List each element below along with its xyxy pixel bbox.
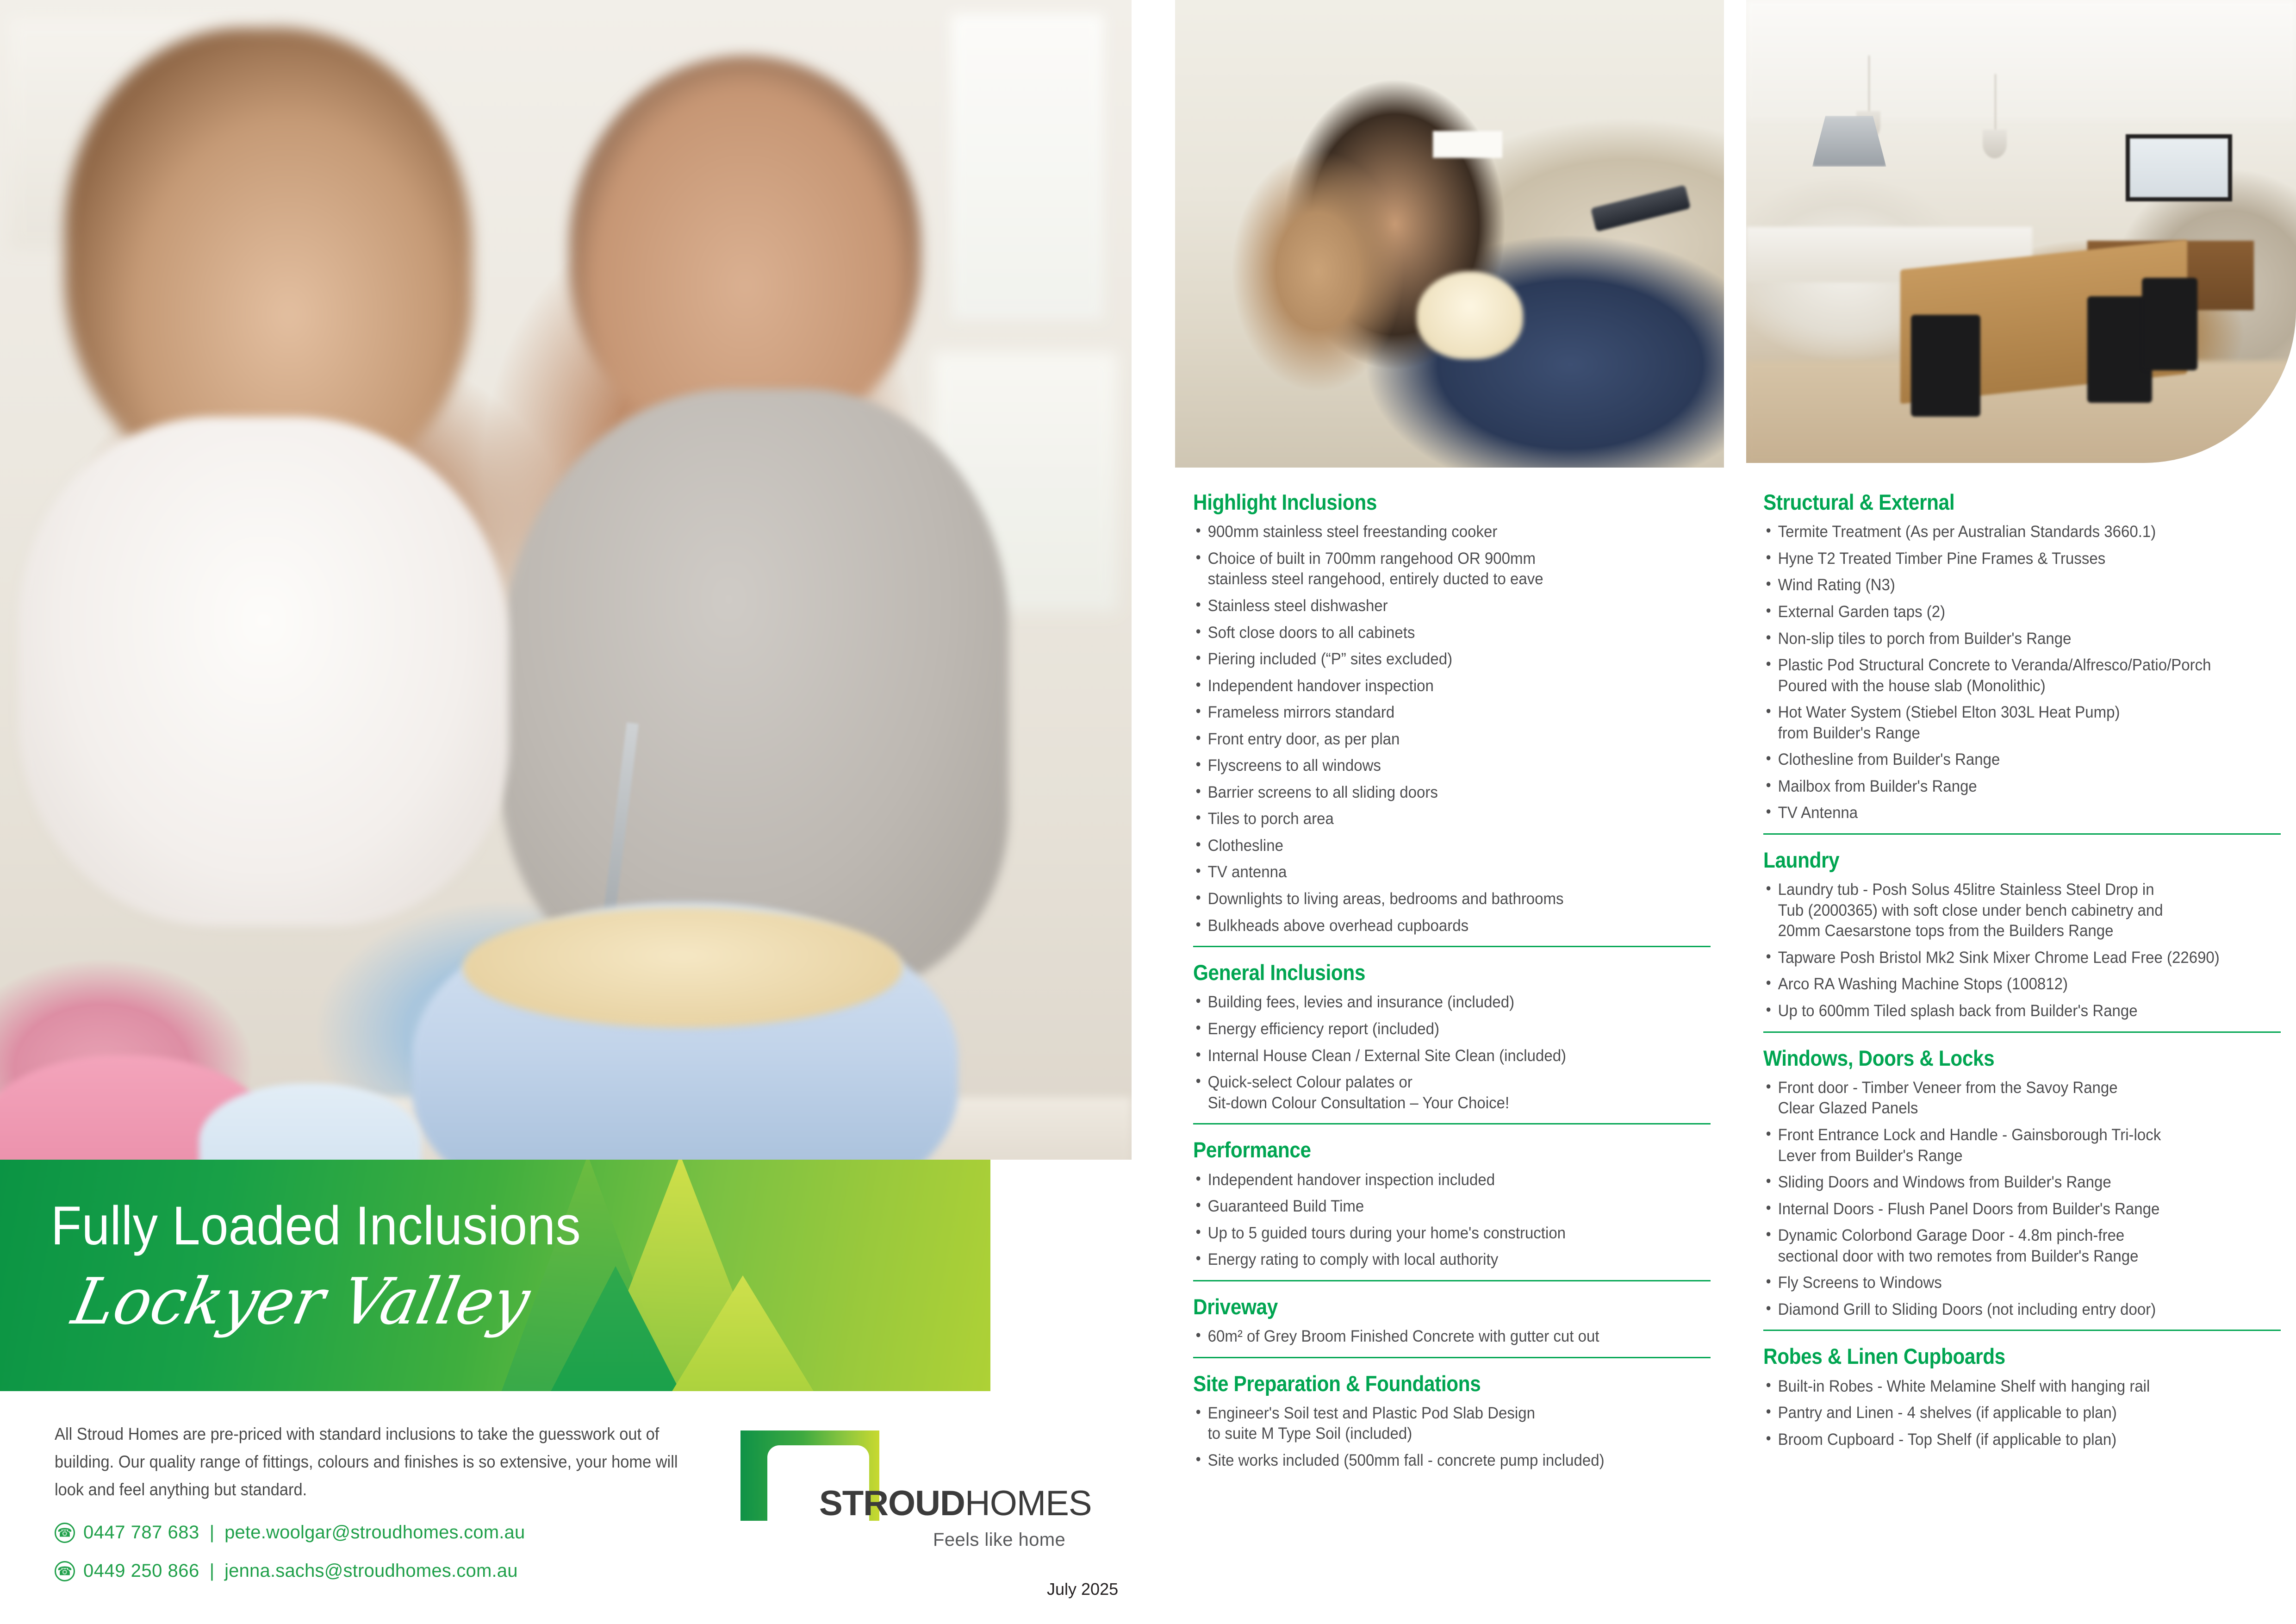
inclusions-section: Robes & Linen CupboardsBuilt-in Robes - … bbox=[1763, 1345, 2281, 1449]
list-item: Broom Cupboard - Top Shelf (if applicabl… bbox=[1763, 1429, 2245, 1450]
banner-subtitle: Lockyer Valley bbox=[67, 1270, 535, 1334]
inclusions-column-middle: Highlight Inclusions900mm stainless stee… bbox=[1193, 491, 1711, 1477]
inclusions-section: Driveway60m² of Grey Broom Finished Conc… bbox=[1193, 1295, 1711, 1347]
phone-icon bbox=[55, 1523, 75, 1543]
list-item: Quick-select Colour palates or Sit-down … bbox=[1193, 1072, 1674, 1113]
contact-list: 0447 787 683 | pete.woolgar@stroudhomes.… bbox=[55, 1522, 525, 1599]
contact-separator: | bbox=[210, 1522, 214, 1543]
list-item: Independent handover inspection included bbox=[1193, 1169, 1674, 1190]
list-item: Frameless mirrors standard bbox=[1193, 702, 1674, 723]
contact-row: 0447 787 683 | pete.woolgar@stroudhomes.… bbox=[55, 1522, 525, 1543]
logo-wordmark: STROUDHOMES bbox=[819, 1486, 1092, 1521]
section-heading: Performance bbox=[1193, 1138, 1659, 1161]
inclusions-section: Site Preparation & FoundationsEngineer's… bbox=[1193, 1372, 1711, 1471]
list-item: Independent handover inspection bbox=[1193, 675, 1674, 696]
contact-separator: | bbox=[210, 1561, 214, 1581]
list-item: Clothesline from Builder's Range bbox=[1763, 749, 2245, 770]
list-item: Wind Rating (N3) bbox=[1763, 575, 2245, 595]
inclusions-list: 60m² of Grey Broom Finished Concrete wit… bbox=[1193, 1326, 1711, 1347]
inclusions-section: Structural & ExternalTermite Treatment (… bbox=[1763, 491, 2281, 823]
logo-tagline: Feels like home bbox=[933, 1530, 1065, 1550]
contact-row: 0449 250 866 | jenna.sachs@stroudhomes.c… bbox=[55, 1561, 525, 1581]
section-heading: Highlight Inclusions bbox=[1193, 491, 1659, 513]
list-item: Pantry and Linen - 4 shelves (if applica… bbox=[1763, 1402, 2245, 1423]
list-item: Site works included (500mm fall - concre… bbox=[1193, 1450, 1674, 1471]
company-blurb: All Stroud Homes are pre-priced with sta… bbox=[55, 1420, 679, 1504]
contact-email[interactable]: jenna.sachs@stroudhomes.com.au bbox=[224, 1561, 518, 1581]
list-item: Up to 600mm Tiled splash back from Build… bbox=[1763, 1000, 2245, 1021]
inclusions-list: Independent handover inspection included… bbox=[1193, 1169, 1711, 1270]
section-divider bbox=[1193, 946, 1711, 947]
inclusions-section: General InclusionsBuilding fees, levies … bbox=[1193, 961, 1711, 1113]
list-item: Tiles to porch area bbox=[1193, 808, 1674, 829]
logo-word-stroud: STROUD bbox=[819, 1484, 965, 1523]
inclusions-column-right: Structural & ExternalTermite Treatment (… bbox=[1763, 491, 2281, 1455]
list-item: Energy efficiency report (included) bbox=[1193, 1018, 1674, 1039]
list-item: Laundry tub - Posh Solus 45litre Stainle… bbox=[1763, 879, 2245, 941]
list-item: Clothesline bbox=[1193, 835, 1674, 856]
list-item: Fly Screens to Windows bbox=[1763, 1272, 2245, 1293]
section-heading: Structural & External bbox=[1763, 491, 2229, 513]
inclusions-section: Highlight Inclusions900mm stainless stee… bbox=[1193, 491, 1711, 936]
list-item: Soft close doors to all cabinets bbox=[1193, 622, 1674, 643]
inclusions-section: LaundryLaundry tub - Posh Solus 45litre … bbox=[1763, 849, 2281, 1021]
section-heading: Windows, Doors & Locks bbox=[1763, 1047, 2229, 1069]
section-divider bbox=[1763, 1031, 2281, 1033]
list-item: Up to 5 guided tours during your home's … bbox=[1193, 1223, 1674, 1243]
inclusions-list: Built-in Robes - White Melamine Shelf wi… bbox=[1763, 1376, 2281, 1450]
inclusions-section: PerformanceIndependent handover inspecti… bbox=[1193, 1138, 1711, 1270]
list-item: Arco RA Washing Machine Stops (100812) bbox=[1763, 974, 2245, 994]
inclusions-list: 900mm stainless steel freestanding cooke… bbox=[1193, 521, 1711, 936]
list-item: Front Entrance Lock and Handle - Gainsbo… bbox=[1763, 1124, 2245, 1166]
list-item: Choice of built in 700mm rangehood OR 90… bbox=[1193, 548, 1674, 589]
inclusions-list: Laundry tub - Posh Solus 45litre Stainle… bbox=[1763, 879, 2281, 1021]
title-banner: Fully Loaded Inclusions Lockyer Valley bbox=[0, 1160, 990, 1391]
list-item: TV Antenna bbox=[1763, 802, 2245, 823]
list-item: Guaranteed Build Time bbox=[1193, 1196, 1674, 1217]
section-divider bbox=[1763, 833, 2281, 835]
section-divider bbox=[1763, 1330, 2281, 1331]
list-item: Piering included (“P” sites excluded) bbox=[1193, 649, 1674, 669]
section-heading: Driveway bbox=[1193, 1295, 1659, 1318]
section-heading: Site Preparation & Foundations bbox=[1193, 1372, 1659, 1395]
list-item: Mailbox from Builder's Range bbox=[1763, 776, 2245, 797]
list-item: Front door - Timber Veneer from the Savo… bbox=[1763, 1077, 2245, 1118]
list-item: Stainless steel dishwasher bbox=[1193, 595, 1674, 616]
list-item: Hyne T2 Treated Timber Pine Frames & Tru… bbox=[1763, 548, 2245, 569]
list-item: Building fees, levies and insurance (inc… bbox=[1193, 992, 1674, 1012]
list-item: Internal Doors - Flush Panel Doors from … bbox=[1763, 1199, 2245, 1219]
list-item: 60m² of Grey Broom Finished Concrete wit… bbox=[1193, 1326, 1674, 1347]
inclusions-section: Windows, Doors & LocksFront door - Timbe… bbox=[1763, 1047, 2281, 1320]
section-divider bbox=[1193, 1357, 1711, 1358]
section-heading: Robes & Linen Cupboards bbox=[1763, 1345, 2229, 1368]
list-item: External Garden taps (2) bbox=[1763, 601, 2245, 622]
photo-couple-watching-tv bbox=[1175, 0, 1724, 468]
inclusions-list: Engineer's Soil test and Plastic Pod Sla… bbox=[1193, 1403, 1711, 1471]
list-item: TV antenna bbox=[1193, 862, 1674, 882]
photo-kitchen-dining bbox=[1746, 0, 2296, 463]
section-divider bbox=[1193, 1123, 1711, 1124]
contact-email[interactable]: pete.woolgar@stroudhomes.com.au bbox=[224, 1522, 525, 1543]
list-item: Energy rating to comply with local autho… bbox=[1193, 1249, 1674, 1270]
list-item: Engineer's Soil test and Plastic Pod Sla… bbox=[1193, 1403, 1674, 1444]
list-item: Tapware Posh Bristol Mk2 Sink Mixer Chro… bbox=[1763, 947, 2245, 968]
list-item: Non-slip tiles to porch from Builder's R… bbox=[1763, 628, 2245, 649]
list-item: Barrier screens to all sliding doors bbox=[1193, 782, 1674, 803]
contact-phone[interactable]: 0447 787 683 bbox=[83, 1522, 199, 1543]
phone-icon bbox=[55, 1561, 75, 1581]
list-item: Hot Water System (Stiebel Elton 303L Hea… bbox=[1763, 702, 2245, 743]
banner-title: Fully Loaded Inclusions bbox=[51, 1199, 581, 1253]
list-item: Downlights to living areas, bedrooms and… bbox=[1193, 888, 1674, 909]
issue-date: July 2025 bbox=[1047, 1580, 1118, 1599]
section-heading: General Inclusions bbox=[1193, 961, 1659, 984]
section-divider bbox=[1193, 1280, 1711, 1281]
list-item: Plastic Pod Structural Concrete to Veran… bbox=[1763, 655, 2245, 696]
list-item: Dynamic Colorbond Garage Door - 4.8m pin… bbox=[1763, 1225, 2245, 1266]
inclusions-list: Front door - Timber Veneer from the Savo… bbox=[1763, 1077, 2281, 1319]
stroud-homes-logo: STROUDHOMES Feels like home bbox=[740, 1430, 1111, 1565]
list-item: Built-in Robes - White Melamine Shelf wi… bbox=[1763, 1376, 2245, 1397]
logo-word-homes: HOMES bbox=[965, 1484, 1092, 1523]
inclusions-list: Building fees, levies and insurance (inc… bbox=[1193, 992, 1711, 1113]
section-heading: Laundry bbox=[1763, 849, 2229, 871]
list-item: Flyscreens to all windows bbox=[1193, 755, 1674, 776]
list-item: Termite Treatment (As per Australian Sta… bbox=[1763, 521, 2245, 542]
list-item: Sliding Doors and Windows from Builder's… bbox=[1763, 1172, 2245, 1193]
contact-phone[interactable]: 0449 250 866 bbox=[83, 1561, 199, 1581]
inclusions-list: Termite Treatment (As per Australian Sta… bbox=[1763, 521, 2281, 823]
hero-photo-family-baking bbox=[0, 0, 1132, 1160]
list-item: Front entry door, as per plan bbox=[1193, 729, 1674, 750]
list-item: Diamond Grill to Sliding Doors (not incl… bbox=[1763, 1299, 2245, 1320]
list-item: 900mm stainless steel freestanding cooke… bbox=[1193, 521, 1674, 542]
list-item: Internal House Clean / External Site Cle… bbox=[1193, 1045, 1674, 1066]
list-item: Bulkheads above overhead cupboards bbox=[1193, 915, 1674, 936]
